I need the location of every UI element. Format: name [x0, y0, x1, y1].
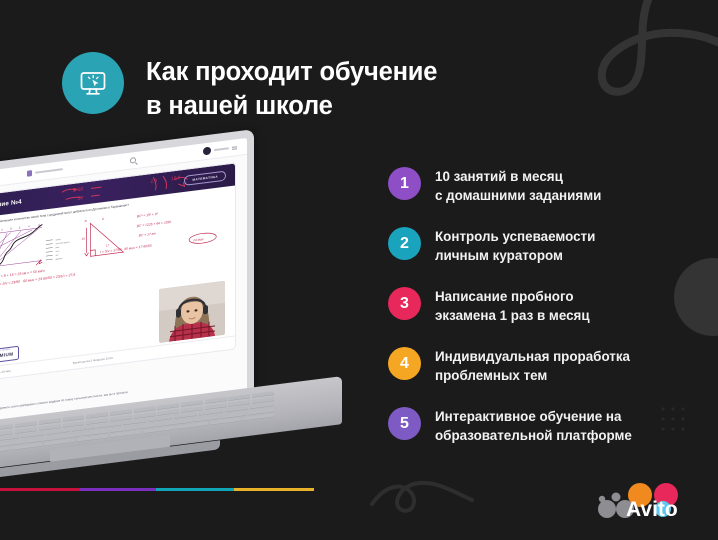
laptop-mockup: 60 10 1,5 18,6 Задание №4 МАТЕМАТИКА За …: [0, 148, 338, 448]
laptop-base: [0, 404, 342, 468]
laptop-screen: 60 10 1,5 18,6 Задание №4 МАТЕМАТИКА За …: [0, 138, 247, 430]
search-icon[interactable]: [130, 157, 136, 164]
header-icon-badge: [62, 52, 124, 114]
svg-text:C: C: [1, 229, 3, 232]
lesson-duration: Длительность 40 мин: [0, 369, 11, 377]
feature-number-badge: 3: [388, 287, 421, 320]
username-text: [214, 147, 229, 151]
feature-label: Контроль успеваемости личным куратором: [435, 226, 595, 265]
avito-wordmark: Avito: [626, 498, 678, 521]
avito-logo-icon: Avito: [596, 482, 700, 522]
features-list: 1 10 занятий в месяц с домашними задания…: [388, 166, 688, 445]
avito-logo: Avito: [596, 482, 700, 522]
svg-text:BC² = 15² + 8²: BC² = 15² + 8²: [137, 212, 159, 219]
feature-label: 10 занятий в месяц с домашними заданиями: [435, 166, 601, 205]
svg-text:F: F: [28, 225, 30, 228]
hamburger-menu-icon[interactable]: [232, 146, 237, 149]
video-participant-tile[interactable]: [159, 281, 225, 343]
svg-text:деревня: деревня: [56, 258, 63, 261]
brand-name-text: [35, 168, 63, 174]
color-bar-segment: [156, 488, 234, 491]
svg-text:мост: мост: [56, 250, 60, 252]
svg-text:8: 8: [102, 217, 104, 221]
svg-text:грунтовая дорога: грунтовая дорога: [56, 242, 70, 246]
list-item: 1 10 занятий в месяц с домашними задания…: [388, 166, 688, 205]
svg-text:18,6: 18,6: [171, 175, 181, 182]
feature-number-badge: 1: [388, 167, 421, 200]
svg-text:D: D: [10, 227, 12, 230]
svg-text:17: 17: [106, 243, 110, 247]
svg-text:60: 60: [78, 186, 84, 193]
feature-label: Интерактивное обучение на образовательно…: [435, 406, 632, 445]
list-item: 3 Написание пробного экзамена 1 раз в ме…: [388, 286, 688, 325]
list-item: 2 Контроль успеваемости личным куратором: [388, 226, 688, 265]
slide-canvas: Как проходит обучение в нашей школе 1 10…: [0, 0, 718, 540]
slide-header: Как проходит обучение в нашей школе: [62, 52, 437, 123]
lesson-date: Время урока 5 Февраля 16:00: [73, 356, 113, 365]
svg-text:15: 15: [82, 237, 86, 241]
feature-number-badge: 2: [388, 227, 421, 260]
svg-text:B: B: [85, 219, 87, 223]
color-bar-segment: [0, 488, 80, 491]
squiggle-wave-decoration-icon: [368, 466, 498, 526]
student-webcam-icon: [159, 281, 225, 343]
desktop-monitor-cursor-icon: [76, 66, 110, 100]
feature-label: Написание пробного экзамена 1 раз в меся…: [435, 286, 590, 325]
squiggle-loop-decoration-icon: [566, 0, 718, 116]
list-item: 5 Интерактивное обучение на образователь…: [388, 406, 688, 445]
color-bar-segment: [80, 488, 156, 491]
search-area[interactable]: [69, 149, 197, 171]
color-bar-segment: [234, 488, 314, 491]
svg-text:BC = 17 км: BC = 17 км: [139, 231, 156, 237]
svg-text:1,5: 1,5: [151, 178, 158, 185]
feature-number-badge: 4: [388, 347, 421, 380]
svg-text:14 мин: 14 мин: [193, 237, 204, 242]
svg-text:шоссе: шоссе: [56, 239, 61, 242]
svg-text:лес: лес: [56, 255, 59, 257]
feature-number-badge: 5: [388, 407, 421, 440]
lesson-card: 60 10 1,5 18,6 Задание №4 МАТЕМАТИКА За …: [0, 162, 236, 382]
premium-label: PREMIUM: [0, 352, 14, 360]
page-title: Как проходит обучение в нашей школе: [146, 52, 437, 123]
svg-text:10: 10: [78, 195, 84, 202]
svg-text:река: река: [56, 247, 60, 249]
feature-label: Индивидуальная проработка проблемных тем: [435, 346, 630, 385]
user-avatar-icon[interactable]: [203, 146, 211, 155]
svg-text:E: E: [19, 226, 21, 229]
accent-color-bar: [0, 488, 352, 491]
learning-platform-page: 60 10 1,5 18,6 Задание №4 МАТЕМАТИКА За …: [0, 138, 247, 430]
svg-text:BC = √225 + 64 = √289: BC = √225 + 64 = √289: [137, 220, 171, 228]
premium-badge: МАСТЕР-ГРУППА PREMIUM: [0, 346, 19, 364]
platform-brand: [27, 166, 63, 177]
account-area[interactable]: [203, 143, 237, 155]
brand-logo-icon: [27, 170, 32, 177]
list-item: 4 Индивидуальная проработка проблемных т…: [388, 346, 688, 385]
